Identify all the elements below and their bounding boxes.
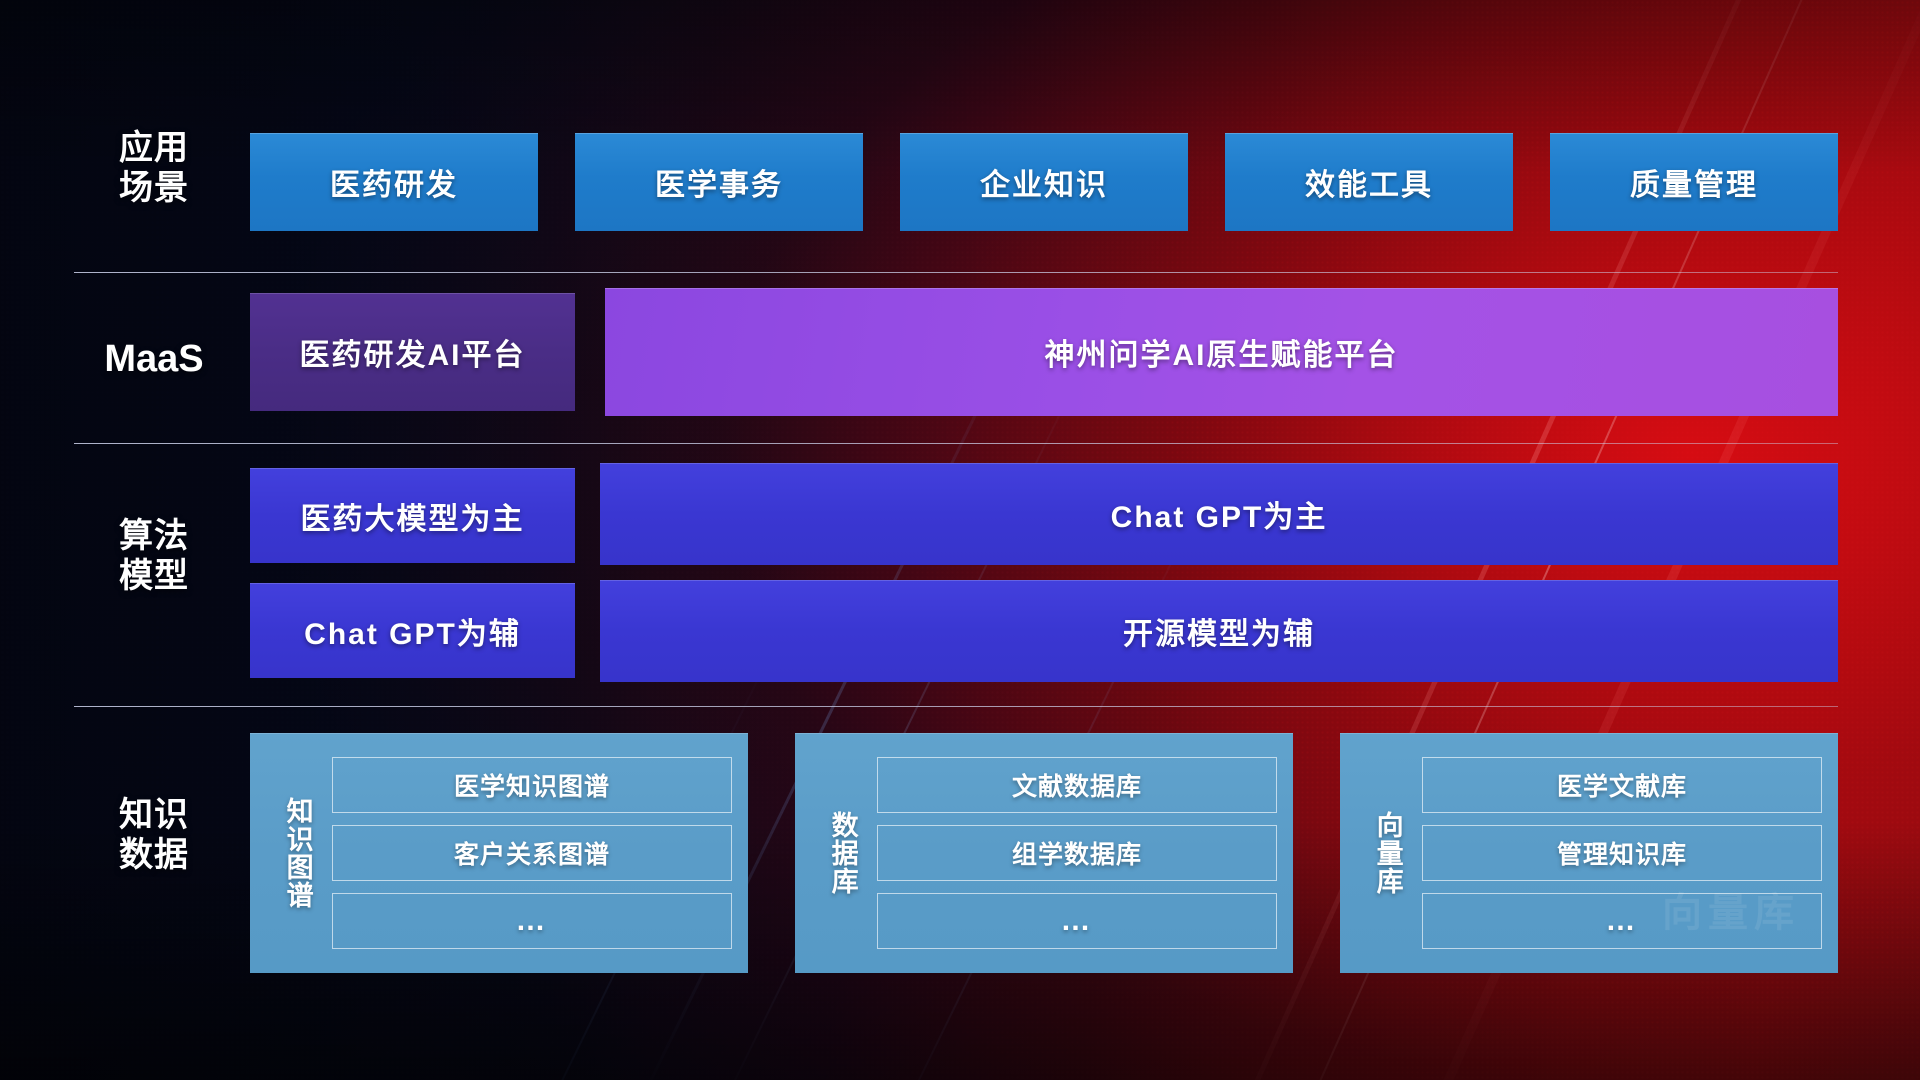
knowledge-item-label: 组学数据库	[1012, 835, 1142, 871]
app-box-1[interactable]: 医学事务	[575, 133, 863, 231]
knowledge-item[interactable]: 医学知识图谱	[332, 757, 732, 813]
app-box-2[interactable]: 企业知识	[900, 133, 1188, 231]
maas-right-box-label: 神州问学AI原生赋能平台	[1045, 330, 1399, 374]
divider-application-maas	[74, 272, 1838, 273]
app-box-label: 效能工具	[1305, 160, 1433, 204]
architecture-diagram: 应用 场景 医药研发 医学事务 企业知识 效能工具 质量管理 MaaS 医药研发…	[0, 0, 1920, 1080]
app-box-0[interactable]: 医药研发	[250, 133, 538, 231]
algo-left-box-1[interactable]: Chat GPT为辅	[250, 583, 575, 678]
algo-box-label: Chat GPT为主	[1111, 492, 1328, 536]
knowledge-item[interactable]: …	[1422, 893, 1822, 949]
row-label-algorithm: 算法 模型	[74, 516, 234, 596]
knowledge-item[interactable]: 文献数据库	[877, 757, 1277, 813]
knowledge-item[interactable]: 组学数据库	[877, 825, 1277, 881]
divider-maas-algorithm	[74, 443, 1838, 444]
knowledge-item[interactable]: …	[332, 893, 732, 949]
knowledge-item-label: …	[516, 904, 549, 938]
knowledge-panel-1[interactable]: 数据库 文献数据库 组学数据库 …	[795, 733, 1293, 973]
knowledge-panel-2[interactable]: 向量库 医学文献库 管理知识库 …	[1340, 733, 1838, 973]
algo-box-label: 开源模型为辅	[1123, 609, 1315, 653]
knowledge-panel-vlabel: 知识图谱	[262, 747, 332, 959]
algo-right-box-0[interactable]: Chat GPT为主	[600, 463, 1838, 565]
app-box-label: 质量管理	[1630, 160, 1758, 204]
knowledge-item-label: 管理知识库	[1557, 835, 1687, 871]
maas-right-box[interactable]: 神州问学AI原生赋能平台	[605, 288, 1838, 416]
row-label-knowledge: 知识 数据	[74, 795, 234, 875]
divider-algorithm-knowledge	[74, 706, 1838, 707]
row-label-application: 应用 场景	[74, 128, 234, 208]
knowledge-item-label: …	[1606, 904, 1639, 938]
knowledge-panel-0[interactable]: 知识图谱 医学知识图谱 客户关系图谱 …	[250, 733, 748, 973]
knowledge-panel-items: 医学知识图谱 客户关系图谱 …	[332, 747, 732, 959]
app-box-label: 企业知识	[980, 160, 1108, 204]
knowledge-item-label: 医学知识图谱	[454, 767, 610, 803]
knowledge-panel-items: 医学文献库 管理知识库 …	[1422, 747, 1822, 959]
knowledge-panel-vlabel: 向量库	[1352, 747, 1422, 959]
knowledge-panel-vlabel: 数据库	[807, 747, 877, 959]
algo-box-label: 医药大模型为主	[301, 494, 525, 538]
app-box-label: 医药研发	[330, 160, 458, 204]
app-box-3[interactable]: 效能工具	[1225, 133, 1513, 231]
algo-right-box-1[interactable]: 开源模型为辅	[600, 580, 1838, 682]
algo-box-label: Chat GPT为辅	[304, 609, 521, 653]
knowledge-item-label: 医学文献库	[1557, 767, 1687, 803]
knowledge-item-label: 客户关系图谱	[454, 835, 610, 871]
app-box-label: 医学事务	[655, 160, 783, 204]
knowledge-item-label: 文献数据库	[1012, 767, 1142, 803]
maas-left-box-label: 医药研发AI平台	[300, 330, 526, 374]
knowledge-item[interactable]: 医学文献库	[1422, 757, 1822, 813]
app-box-4[interactable]: 质量管理	[1550, 133, 1838, 231]
knowledge-panel-items: 文献数据库 组学数据库 …	[877, 747, 1277, 959]
knowledge-item[interactable]: 管理知识库	[1422, 825, 1822, 881]
row-label-maas: MaaS	[74, 337, 234, 382]
algo-left-box-0[interactable]: 医药大模型为主	[250, 468, 575, 563]
knowledge-item-label: …	[1061, 904, 1094, 938]
knowledge-item[interactable]: …	[877, 893, 1277, 949]
maas-left-box[interactable]: 医药研发AI平台	[250, 293, 575, 411]
knowledge-item[interactable]: 客户关系图谱	[332, 825, 732, 881]
